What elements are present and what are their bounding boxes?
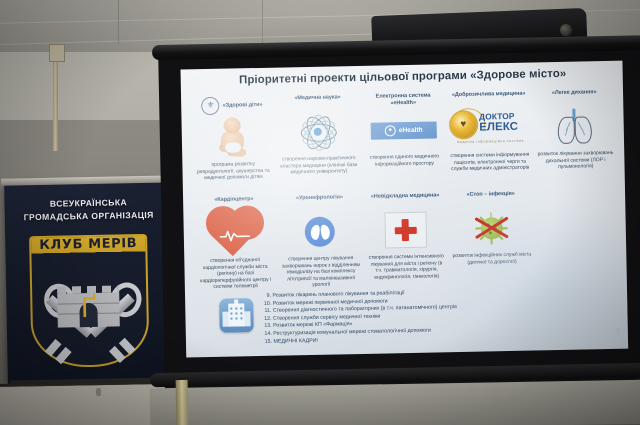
eleks-logo-line2: ЕЛЕКС [479,121,518,134]
ceiling-divider [262,0,263,44]
projection-screen: Пріоритетні проекти цільової програми «З… [158,35,640,394]
row2-spacer [533,189,620,285]
trident-icon: Ґ [80,295,98,325]
slide-row-2: «Кардіоцентр» створення об'єднаної карді… [191,189,621,292]
atom-icon [299,109,338,154]
organization-banner: ВСЕУКРАЇНСЬКА ГРОМАДСЬКА ОРГАНІЗАЦІЯ КЛУ… [4,181,176,384]
card-header: ⚜ «Здорові діти» [201,96,262,115]
card-description: розвиток інфекційних служб міста (дитячо… [452,252,532,267]
card-header: «Доброзичлива медицина» [452,91,526,106]
card-description: створення системи інформування пацієнтів… [450,152,530,173]
lungs-icon [555,104,594,149]
card-description: розвиток лікування захворювань дихальної… [536,150,616,171]
baby-photo-icon [216,115,249,160]
lower-wall [150,380,640,425]
card-description: створення науково-практичного кластера м… [279,155,359,176]
project-card-medical-science[interactable]: «Медична наука» створення науково-пра [275,94,362,180]
card-header: «Уронефрологія» [296,194,343,209]
eleks-logo-subtitle: медична інформаційна система [453,139,529,145]
project-card-cardio-center[interactable]: «Кардіоцентр» створення об'єднаної карді… [191,196,278,292]
projector-lens-icon [560,24,572,36]
project-card-healthy-children[interactable]: ⚜ «Здорові діти» програма розвитку репро… [189,96,276,182]
card-header: Електронна система «eHealth» [363,92,443,108]
photo-scene: ВСЕУКРАЇНСЬКА ГРОМАДСЬКА ОРГАНІЗАЦІЯ КЛУ… [0,0,640,425]
wall-trim [176,380,189,425]
list-item-label: Розвиток мережі КП «Фармація» [273,322,352,330]
list-item-number: 15. [262,338,272,346]
slide-page-number: 8 [616,328,620,335]
table-knob [96,388,101,396]
project-card-easy-breathing[interactable]: «Легке дихання» розвиток лікування за [531,89,618,175]
heart-ecg-icon [214,211,255,256]
card-description: створення єдиного медичного інформаційно… [364,153,444,168]
card-header: «Легке дихання» [552,89,597,104]
ehealth-logo-text: eHealth [399,126,423,133]
hospital-building-icon [219,298,254,333]
card-description: створення системи інтенсивного лікування… [366,253,446,281]
club-of-mayors-crest: КЛУБ МЕРІВ Ґ [29,234,150,368]
numbered-projects-list: 9. Розвиток лікарень планового лікування… [261,285,620,346]
ehealth-logo-icon: ● eHealth [370,107,437,152]
project-card-ehealth[interactable]: Електронна система «eHealth» ● eHealth с… [360,92,447,178]
stethoscope-badge-icon: ⚜ [201,97,219,115]
project-card-uronephrology[interactable]: «Уронефрологія» створення центру лікуван… [277,194,364,290]
virus-crossed-out-icon [472,206,511,251]
card-header: «Медична наука» [294,94,341,109]
crest-name: КЛУБ МЕРІВ [29,236,147,254]
slide-row-1: ⚜ «Здорові діти» програма розвитку репро… [189,89,619,182]
red-cross-icon [384,208,427,253]
card-header: «Невідкладна медицина» [371,192,440,207]
slide-canvas: Пріоритетні проекти цільової програми «З… [180,61,628,358]
banner-title: ВСЕУКРАЇНСЬКА ГРОМАДСЬКА ОРГАНІЗАЦІЯ [4,195,172,224]
project-card-friendly-medicine[interactable]: «Доброзичлива медицина» ♥ ДОКТОР ЕЛЕКС м… [446,91,533,177]
card-description: програма розвитку репродуктології, акуше… [193,161,273,182]
list-item-label: Створення служби сервісу медичної технік… [273,313,380,321]
list-item-label: МЕДИЧНІ КАДРИ! [273,337,318,344]
card-description: створення об'єднаної кардіологічної служ… [195,257,275,292]
project-card-stop-infection[interactable]: «Стоп – інфекція» [448,190,535,286]
ecg-line-icon [220,229,250,242]
card-header: «Стоп – інфекція» [466,191,514,206]
card-description: створення центру лікування захворювань н… [281,255,361,290]
ehealth-mark-icon: ● [385,125,396,136]
numbered-projects-block: 9. Розвиток лікарень планового лікування… [219,285,620,347]
doctor-eleks-logo-icon: ♥ ДОКТОР ЕЛЕКС медична інформаційна сист… [450,106,529,152]
card-header-label: «Здорові діти» [222,101,262,109]
kidneys-icon [305,209,336,254]
project-card-emergency-medicine[interactable]: «Невідкладна медицина» створення системи… [362,192,449,288]
ceiling-divider [118,0,119,44]
slide-title: Пріоритетні проекти цільової програми «З… [195,67,611,87]
wall-junction-box [49,44,65,62]
